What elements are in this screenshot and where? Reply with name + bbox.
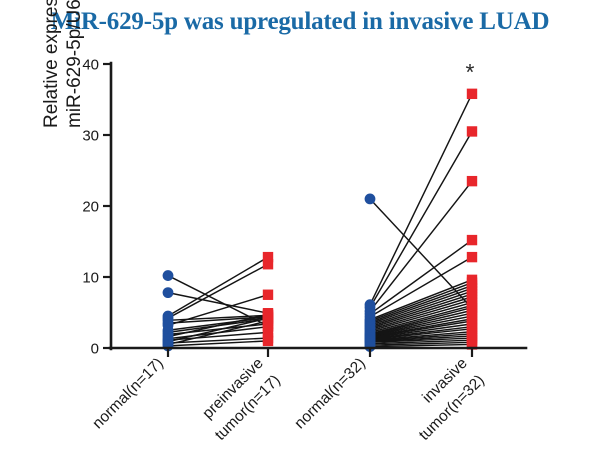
data-point-tumor	[263, 259, 273, 269]
significance-star: *	[466, 59, 475, 85]
pair-line	[370, 94, 472, 305]
pair-line	[168, 257, 268, 316]
y-axis-ticks: 010203040	[82, 57, 111, 358]
scatter-plot: 010203040 normal(n=17)preinvasivetumor(n…	[0, 0, 600, 452]
data-point-tumor	[467, 89, 477, 99]
paired-connector-lines	[168, 94, 472, 347]
data-point-normal	[365, 194, 376, 205]
x-tick-label: normal(n=32)	[291, 355, 369, 433]
y-axis-label-line1: Relative expression of	[41, 0, 62, 128]
data-point-tumor	[263, 336, 273, 346]
data-point-tumor	[467, 176, 477, 186]
x-tick-label: normal(n=17)	[89, 355, 167, 433]
y-tick-label: 30	[82, 128, 99, 145]
data-point-tumor	[263, 290, 273, 300]
x-axis-tick-labels: normal(n=17)preinvasivetumor(n=17)normal…	[89, 355, 488, 444]
pair-line	[370, 131, 472, 307]
y-tick-label: 20	[82, 199, 99, 216]
data-point-tumor	[467, 235, 477, 245]
data-point-normal	[163, 270, 174, 281]
pair-line	[370, 240, 472, 314]
data-point-tumor	[467, 252, 477, 262]
y-tick-label: 10	[82, 270, 99, 287]
y-axis-label-line2: miR-629-5p/U6	[64, 0, 85, 128]
y-tick-label: 0	[91, 341, 99, 358]
data-point-tumor	[467, 126, 477, 136]
data-point-tumor	[263, 316, 273, 326]
x-axis-ticks	[168, 348, 472, 357]
plot-svg: 010203040 normal(n=17)preinvasivetumor(n…	[0, 0, 600, 452]
data-point-normal	[163, 287, 174, 298]
